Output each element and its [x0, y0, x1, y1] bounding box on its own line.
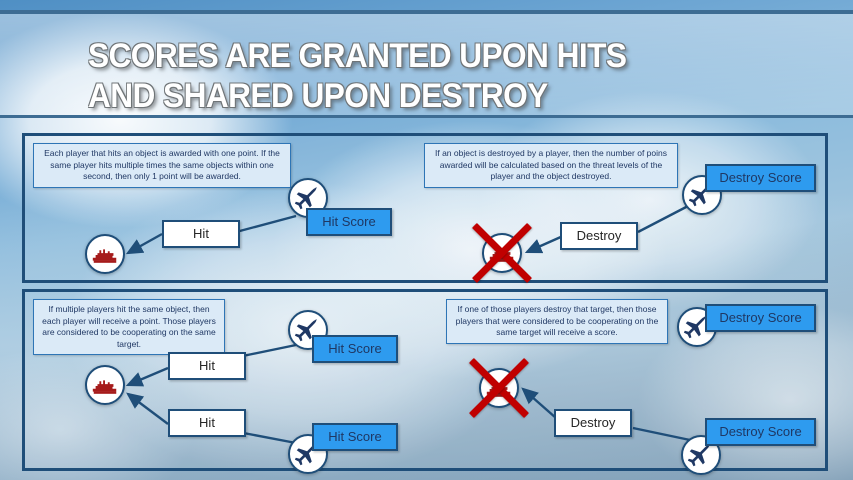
score-badge-hit-score[interactable]: Hit Score [306, 208, 392, 236]
score-badge-hit-score[interactable]: Hit Score [312, 335, 398, 363]
tank-icon-glyph [90, 370, 120, 400]
score-badge-hit-score[interactable]: Hit Score [312, 423, 398, 451]
note-hit-rule: Each player that hits an object is award… [33, 143, 291, 188]
score-badge-destroy-score[interactable]: Destroy Score [705, 164, 816, 192]
tank-icon-glyph [90, 239, 120, 269]
action-label-hit[interactable]: Hit [168, 352, 246, 380]
tank-icon[interactable] [85, 365, 125, 405]
title-band: SCORES ARE GRANTED UPON HITS AND SHARED … [0, 10, 853, 118]
tank-icon[interactable] [85, 234, 125, 274]
note-cooperation-rule: If multiple players hit the same object,… [33, 299, 225, 355]
page-title: SCORES ARE GRANTED UPON HITS AND SHARED … [88, 36, 758, 116]
score-badge-destroy-score[interactable]: Destroy Score [705, 304, 816, 332]
action-label-destroy[interactable]: Destroy [554, 409, 632, 437]
action-label-destroy[interactable]: Destroy [560, 222, 638, 250]
note-destroy-rule: If an object is destroyed by a player, t… [424, 143, 678, 188]
score-badge-destroy-score[interactable]: Destroy Score [705, 418, 816, 446]
destroyed-x-icon [467, 218, 537, 288]
action-label-hit[interactable]: Hit [162, 220, 240, 248]
action-label-hit[interactable]: Hit [168, 409, 246, 437]
note-shared-score-rule: If one of those players destroy that tar… [446, 299, 668, 344]
destroyed-x-icon [464, 353, 534, 423]
